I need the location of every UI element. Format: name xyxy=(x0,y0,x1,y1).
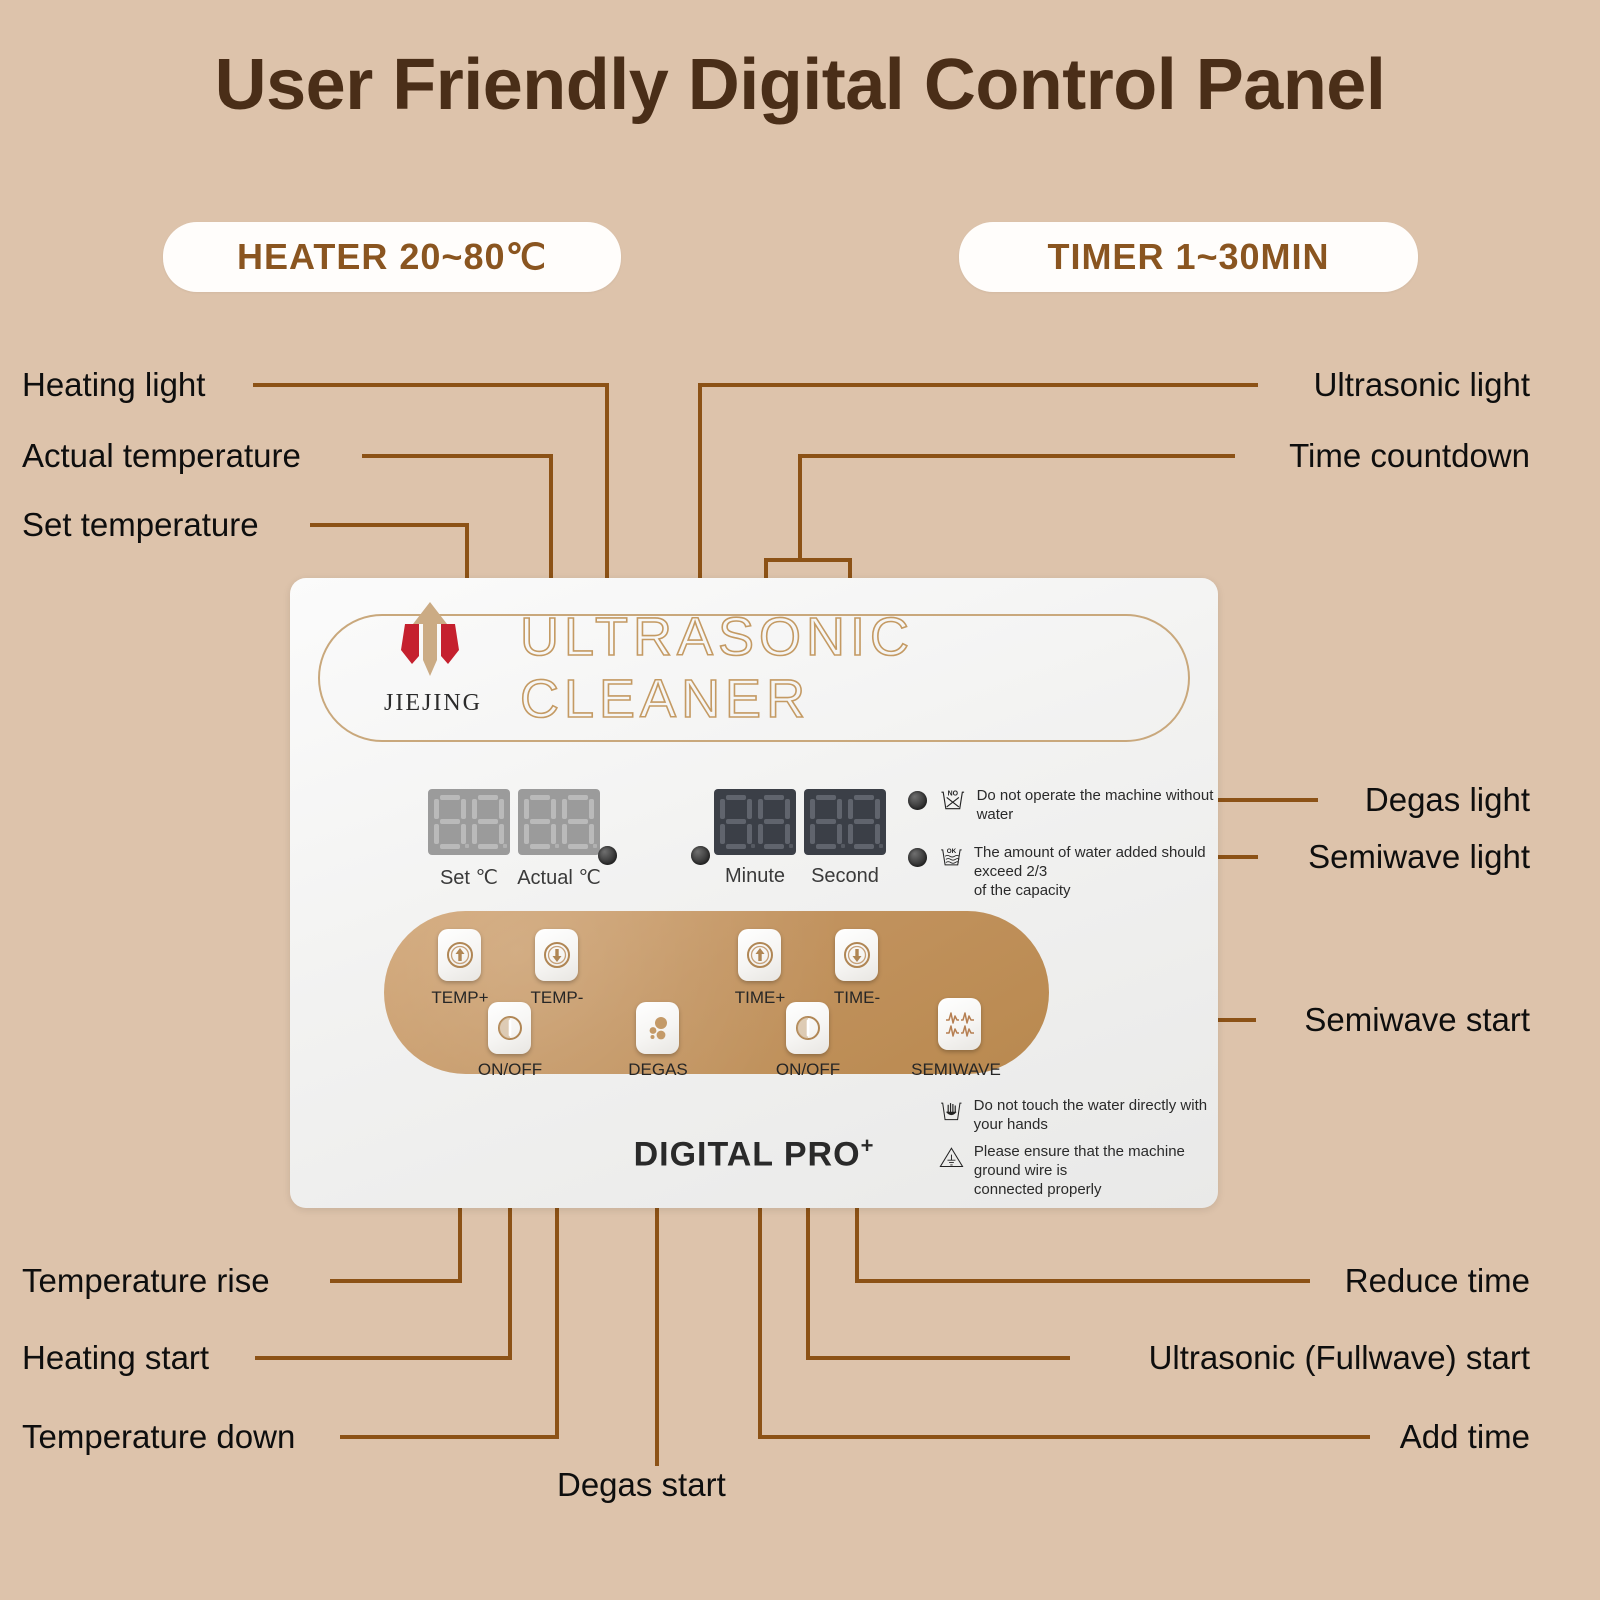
callout-degas-light: Degas light xyxy=(1365,783,1530,816)
seven-segment-digit xyxy=(809,794,843,850)
ultrasonic-light-led xyxy=(691,846,710,865)
ultrasonic-onoff-label: ON/OFF xyxy=(758,1060,858,1080)
callout-reduce-time: Reduce time xyxy=(1345,1264,1530,1297)
second-label: Second xyxy=(794,865,896,888)
bubbles-icon xyxy=(642,1012,674,1044)
callout-ultrasonic-start: Ultrasonic (Fullwave) start xyxy=(1149,1341,1530,1374)
ok-water-icon: OK xyxy=(938,844,965,870)
seven-segment-digit xyxy=(847,794,881,850)
semiwave-button[interactable] xyxy=(938,998,981,1050)
callout-heating-start: Heating start xyxy=(22,1341,209,1374)
water-level-warning: OK The amount of water added should exce… xyxy=(938,844,1218,900)
circle-up-arrow-icon xyxy=(444,939,476,971)
no-water-icon: NO xyxy=(938,787,968,813)
callout-semiwave-start: Semiwave start xyxy=(1304,1003,1530,1036)
page-title: User Friendly Digital Control Panel xyxy=(0,44,1600,126)
callout-ultrasonic-light: Ultrasonic light xyxy=(1314,368,1530,401)
waveform-icon xyxy=(942,1007,978,1041)
heater-onoff-label: ON/OFF xyxy=(460,1060,560,1080)
semiwave-label: SEMIWAVE xyxy=(901,1060,1011,1080)
no-hands-warning: Do not touch the water directly with you… xyxy=(938,1097,1218,1135)
heating-light-led xyxy=(598,846,617,865)
callout-actual-temperature: Actual temperature xyxy=(22,439,301,472)
degas-label: DEGAS xyxy=(608,1060,708,1080)
seven-segment-digit xyxy=(471,794,505,850)
no-hands-icon xyxy=(938,1097,965,1125)
time-minus-button[interactable] xyxy=(835,929,878,981)
degas-button[interactable] xyxy=(636,1002,679,1054)
circle-down-arrow-icon xyxy=(541,939,573,971)
product-name: ULTRASONIC CLEANER xyxy=(520,606,1218,730)
callout-semiwave-light: Semiwave light xyxy=(1308,840,1530,873)
callout-heating-light: Heating light xyxy=(22,368,205,401)
seven-segment-digit xyxy=(719,794,753,850)
seven-segment-digit xyxy=(561,794,595,850)
no-hands-warning-text: Do not touch the water directly with you… xyxy=(974,1097,1218,1135)
diagram-canvas: User Friendly Digital Control Panel HEAT… xyxy=(0,0,1600,1600)
time-plus-button[interactable] xyxy=(738,929,781,981)
seven-segment-digit xyxy=(433,794,467,850)
heater-onoff-button[interactable] xyxy=(488,1002,531,1054)
callout-degas-start: Degas start xyxy=(557,1468,726,1501)
water-level-warning-text: The amount of water added should exceed … xyxy=(974,844,1218,900)
model-badge: DIGITAL PRO+ xyxy=(290,1133,1218,1174)
svg-text:OK: OK xyxy=(947,848,957,855)
actual-temperature-label: Actual ℃ xyxy=(508,865,610,890)
no-water-warning-text: Do not operate the machine without water xyxy=(977,787,1218,825)
callout-temperature-rise: Temperature rise xyxy=(22,1264,270,1297)
heater-range-badge: HEATER 20~80℃ xyxy=(163,222,621,292)
temp-minus-button[interactable] xyxy=(535,929,578,981)
svg-text:NO: NO xyxy=(948,791,959,798)
brand-name: JIEJING xyxy=(363,690,503,717)
seven-segment-digit xyxy=(757,794,791,850)
temp-plus-button[interactable] xyxy=(438,929,481,981)
semiwave-light-led xyxy=(908,848,927,867)
control-panel: JIEJING ULTRASONIC CLEANER Set ℃ Actual … xyxy=(290,578,1218,1208)
degas-light-led xyxy=(908,791,927,810)
ultrasonic-onoff-button[interactable] xyxy=(786,1002,829,1054)
minute-display xyxy=(714,789,796,855)
model-text: DIGITAL PRO xyxy=(634,1135,861,1173)
actual-temperature-display xyxy=(518,789,600,855)
seven-segment-digit xyxy=(523,794,557,850)
model-sup: + xyxy=(861,1133,875,1158)
callout-add-time: Add time xyxy=(1400,1420,1530,1453)
power-icon xyxy=(792,1012,824,1044)
circle-up-arrow-icon xyxy=(744,939,776,971)
no-water-warning: NO Do not operate the machine without wa… xyxy=(938,787,1218,825)
timer-range-badge: TIMER 1~30MIN xyxy=(959,222,1418,292)
callout-time-countdown: Time countdown xyxy=(1289,439,1530,472)
circle-down-arrow-icon xyxy=(841,939,873,971)
set-temperature-display xyxy=(428,789,510,855)
minute-label: Minute xyxy=(704,865,806,888)
second-display xyxy=(804,789,886,855)
set-temperature-label: Set ℃ xyxy=(418,865,520,890)
power-icon xyxy=(494,1012,526,1044)
jiejing-logo-icon xyxy=(375,598,485,694)
callout-set-temperature: Set temperature xyxy=(22,508,259,541)
callout-temperature-down: Temperature down xyxy=(22,1420,295,1453)
